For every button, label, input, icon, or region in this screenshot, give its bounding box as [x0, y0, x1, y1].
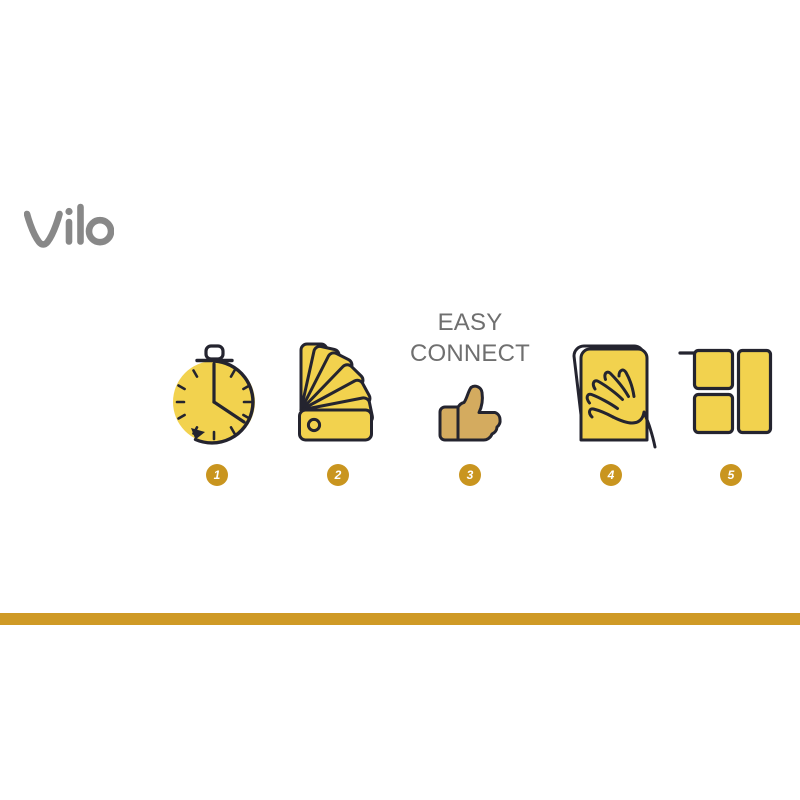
step-badge-1: 1 [206, 464, 228, 486]
step-badge-4: 4 [600, 464, 622, 486]
panel-tile-top-left [695, 351, 733, 389]
panel-layout-icon [671, 300, 791, 450]
step-badge-5: 5 [720, 464, 742, 486]
feature-item-2[interactable]: 2 [278, 300, 398, 500]
step-badge-2: 2 [327, 464, 349, 486]
color-swatch-fan-icon [278, 300, 398, 450]
step-badge-3: 3 [459, 464, 481, 486]
feature-item-4[interactable]: 4 [551, 300, 671, 500]
logo-letter-v [27, 214, 60, 244]
feature-item-3[interactable]: EASY CONNECT 3 [410, 300, 530, 500]
panel-tile-bottom-left [695, 395, 733, 433]
thumb-cuff [440, 407, 458, 440]
bottom-gold-rule [0, 613, 800, 625]
feature-strip: 1 2 EASY CONNECT [80, 300, 700, 500]
thumb-hand [458, 386, 500, 440]
stopwatch-timer-icon [157, 300, 277, 450]
logo-letter-o [89, 220, 111, 242]
panel-tile-right [739, 351, 771, 433]
feature-item-5[interactable]: 5 [671, 300, 791, 500]
logo-letter-i-dot [65, 208, 72, 215]
swatch-fan-rivet [308, 419, 319, 430]
stopwatch-crown [206, 346, 223, 359]
brand-logo [24, 203, 114, 249]
feature-item-1[interactable]: 1 [157, 300, 277, 500]
thumbs-up-icon [410, 300, 530, 450]
hand-wiping-panel-icon [551, 300, 671, 450]
